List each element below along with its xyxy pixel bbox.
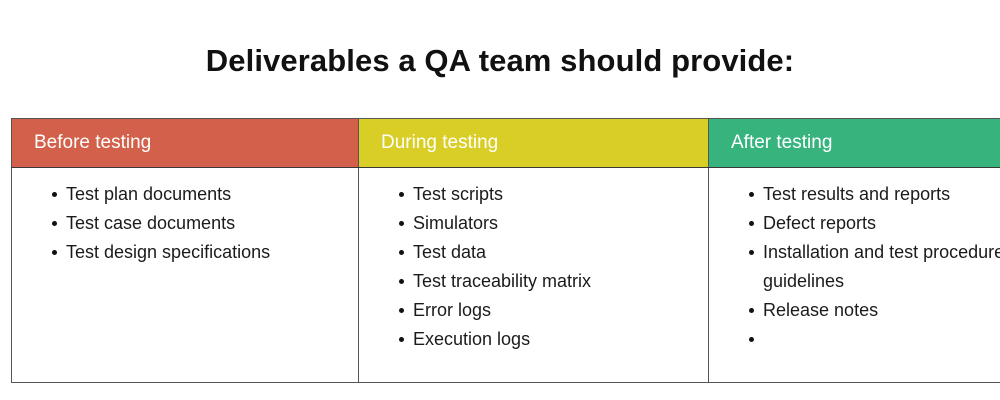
table-row: Test plan documents Test case documents …	[12, 168, 1000, 383]
list-item: Test data	[399, 238, 694, 267]
table-body: Test plan documents Test case documents …	[12, 168, 1000, 383]
column-header-before-testing: Before testing	[12, 119, 359, 168]
infographic-page: Deliverables a QA team should provide: B…	[0, 0, 1000, 400]
list-item: Test design specifications	[52, 238, 344, 267]
table-header-row: Before testing During testing After test…	[12, 119, 1000, 168]
list-item: Defect reports	[749, 209, 1000, 238]
list-during-testing: Test scripts Simulators Test data Test t…	[373, 180, 694, 354]
list-item: Test case documents	[52, 209, 344, 238]
deliverables-table: Before testing During testing After test…	[11, 118, 1000, 383]
list-before-testing: Test plan documents Test case documents …	[26, 180, 344, 267]
list-item: Release notes	[749, 296, 1000, 325]
cell-after-testing: Test results and reports Defect reports …	[709, 168, 1000, 383]
list-item: Execution logs	[399, 325, 694, 354]
list-item: Error logs	[399, 296, 694, 325]
column-header-after-testing: After testing	[709, 119, 1000, 168]
deliverables-table-wrapper: Before testing During testing After test…	[11, 118, 989, 383]
list-item-empty	[749, 325, 1000, 354]
list-item: Installation and test procedure guidelin…	[749, 238, 1000, 296]
list-item: Simulators	[399, 209, 694, 238]
list-item: Test scripts	[399, 180, 694, 209]
list-item: Test traceability matrix	[399, 267, 694, 296]
list-item: Test plan documents	[52, 180, 344, 209]
list-item: Test results and reports	[749, 180, 1000, 209]
cell-before-testing: Test plan documents Test case documents …	[12, 168, 359, 383]
table-header-row-group: Before testing During testing After test…	[12, 119, 1000, 168]
page-title: Deliverables a QA team should provide:	[0, 42, 1000, 80]
cell-during-testing: Test scripts Simulators Test data Test t…	[359, 168, 709, 383]
list-after-testing: Test results and reports Defect reports …	[723, 180, 1000, 354]
column-header-during-testing: During testing	[359, 119, 709, 168]
